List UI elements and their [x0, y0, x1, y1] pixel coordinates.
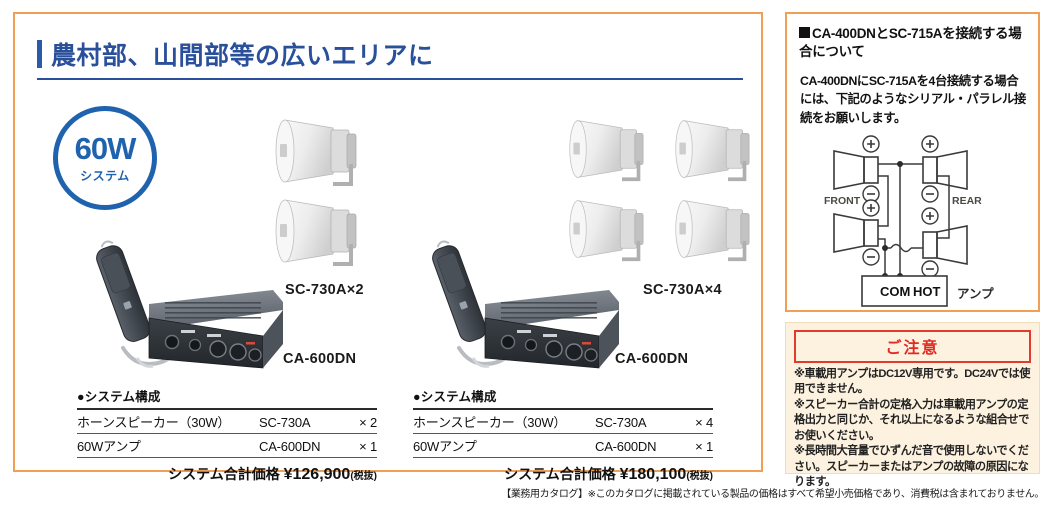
spec-name: ホーンスピーカー（30W）	[77, 412, 259, 431]
spec-total-tax: (税抜)	[686, 471, 713, 482]
connection-title: CA-400DNとSC-715Aを接続する場合について	[799, 25, 1031, 61]
spec-total-tax: (税抜)	[350, 471, 377, 482]
amp-hot-label: HOT	[913, 284, 941, 299]
power-badge-watt: 60W	[75, 133, 136, 164]
horn-speaker-icon	[673, 192, 783, 266]
power-badge-sub: システム	[80, 167, 130, 184]
table-row: ホーンスピーカー（30W） SC-730A × 2	[77, 410, 377, 434]
caution-body: ※車載用アンプはDC12V専用です。DC24Vでは使用できません。 ※スピーカー…	[794, 367, 1031, 491]
spec-model: CA-600DN	[595, 439, 679, 454]
spec-total-label: システム合計価格	[504, 466, 616, 482]
amplifier-unit-icon	[413, 232, 623, 382]
spec-total-price: ¥126,900	[284, 466, 351, 483]
horn-speaker-icon	[273, 192, 393, 270]
title-divider	[37, 78, 743, 80]
caution-box: ご注意 ※車載用アンプはDC12V専用です。DC24Vでは使用できません。 ※ス…	[785, 322, 1040, 474]
spec-name: ホーンスピーカー（30W）	[413, 412, 595, 431]
caution-title: ご注意	[794, 330, 1031, 363]
caution-item: ※長時間大音量でひずんだ音で使用しないでください。スピーカーまたはアンプの故障の…	[794, 444, 1031, 490]
page-title-text: 農村部、山間部等の広いエリアに	[51, 36, 434, 72]
square-bullet-icon	[799, 27, 810, 38]
amp-unit-label: アンプ	[957, 286, 994, 301]
table-row: 60Wアンプ CA-600DN × 1	[413, 434, 713, 458]
table-row: 60Wアンプ CA-600DN × 1	[77, 434, 377, 458]
spec-model: CA-600DN	[259, 439, 343, 454]
spec-name: 60Wアンプ	[413, 436, 595, 455]
main-panel: 農村部、山間部等の広いエリアに 60W システム	[13, 12, 763, 472]
spec-name: 60Wアンプ	[77, 436, 259, 455]
connection-body: CA-400DNにSC-715Aを4台接続する場合には、下記のようなシリアル・パ…	[800, 72, 1030, 127]
table-row: ホーンスピーカー（30W） SC-730A × 4	[413, 410, 713, 434]
horn-speaker-icon	[673, 112, 783, 186]
amplifier-unit-icon	[77, 232, 287, 382]
rear-label: REAR	[952, 195, 982, 207]
title-accent-bar	[37, 40, 42, 68]
spec-table-left: ●システム構成 ホーンスピーカー（30W） SC-730A × 2 60Wアンプ…	[77, 386, 377, 484]
caution-item: ※スピーカー合計の定格入力は車載用アンプの定格出力と同じか、それ以上になるような…	[794, 398, 1031, 444]
footnote: 【業務用カタログ】※このカタログに掲載されている製品の価格はすべて希望小売価格で…	[501, 485, 1044, 500]
page-title: 農村部、山間部等の広いエリアに	[37, 36, 743, 72]
spec-qty: × 1	[679, 439, 713, 454]
catalog-page: 農村部、山間部等の広いエリアに 60W システム	[0, 0, 1052, 507]
spec-model: SC-730A	[595, 415, 679, 430]
spec-rows: ホーンスピーカー（30W） SC-730A × 2 60Wアンプ CA-600D…	[77, 408, 377, 458]
spec-qty: × 1	[343, 439, 377, 454]
spec-model: SC-730A	[259, 415, 343, 430]
speaker-model-label: SC-730A×4	[643, 282, 722, 298]
spec-rows: ホーンスピーカー（30W） SC-730A × 4 60Wアンプ CA-600D…	[413, 408, 713, 458]
spec-total-row: システム合計価格 ¥126,900(税抜)	[77, 464, 377, 484]
amp-model-label: CA-600DN	[283, 351, 356, 367]
amp-model-label: CA-600DN	[615, 351, 688, 367]
caution-item: ※車載用アンプはDC12V専用です。DC24Vでは使用できません。	[794, 367, 1031, 398]
spec-table-right: ●システム構成 ホーンスピーカー（30W） SC-730A × 4 60Wアンプ…	[413, 386, 713, 484]
spec-total-row: システム合計価格 ¥180,100(税抜)	[413, 464, 713, 484]
amp-com-label: COM	[880, 284, 910, 299]
front-label: FRONT	[824, 195, 861, 207]
spec-qty: × 4	[679, 415, 713, 430]
wiring-diagram: COM HOT FRONT REAR アンプ	[792, 126, 1037, 311]
spec-total-price: ¥180,100	[620, 466, 687, 483]
spec-heading: ●システム構成	[77, 386, 377, 405]
power-badge: 60W システム	[53, 106, 157, 210]
speaker-model-label: SC-730A×2	[285, 282, 364, 298]
horn-speaker-icon	[567, 112, 677, 186]
spec-total-label: システム合計価格	[168, 466, 280, 482]
connection-panel: CA-400DNとSC-715Aを接続する場合について CA-400DNにSC-…	[785, 12, 1040, 312]
spec-heading: ●システム構成	[413, 386, 713, 405]
spec-qty: × 2	[343, 415, 377, 430]
horn-speaker-icon	[273, 112, 393, 190]
connection-title-text: CA-400DNとSC-715Aを接続する場合について	[799, 26, 1021, 59]
